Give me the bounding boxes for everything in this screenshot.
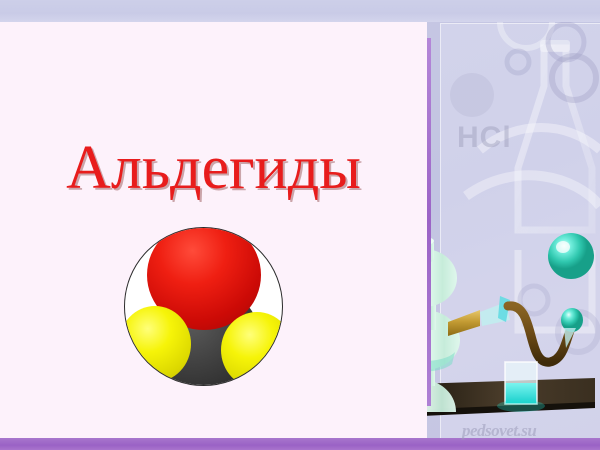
- rubber-tube: [508, 306, 571, 362]
- side-arm-and-brass-collar: [448, 296, 510, 336]
- watermark: pedsovet.su: [462, 421, 536, 441]
- hydrogen-atom-right: [221, 312, 283, 386]
- hcl-background-label: HCl: [457, 121, 512, 155]
- page-title: Альдегиды: [0, 133, 427, 204]
- green-sphere: [548, 233, 594, 279]
- vertical-divider: [427, 38, 431, 406]
- beaker: [497, 362, 545, 412]
- slide-canvas: HCl: [0, 0, 600, 450]
- molecule-model: [124, 227, 283, 386]
- top-band: [0, 0, 600, 22]
- molecule-stage: [125, 228, 282, 385]
